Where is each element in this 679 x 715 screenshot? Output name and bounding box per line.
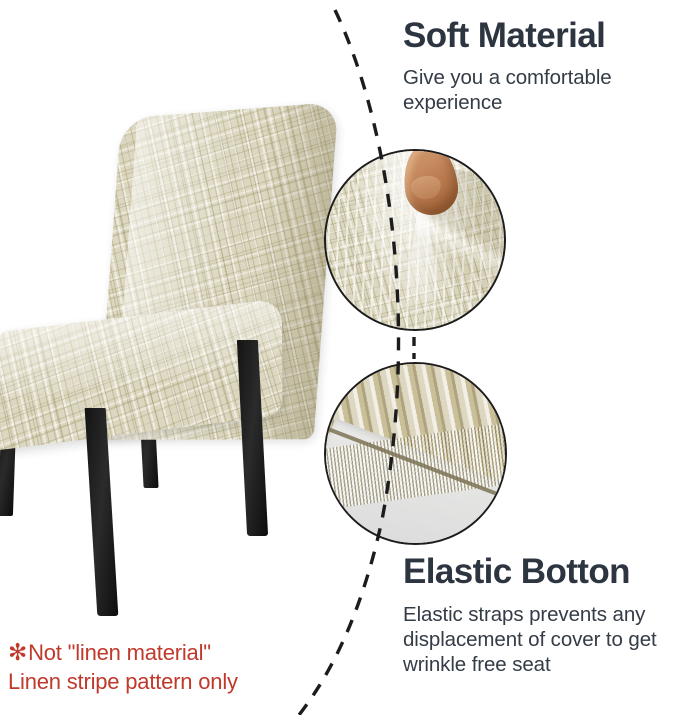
product-infographic: Soft Material Give you a comfortable exp… — [0, 0, 679, 715]
disclaimer-line-2: Linen stripe pattern only — [8, 667, 308, 696]
feature-description-soft-material: Give you a comfortable experience — [403, 65, 671, 115]
elastic-botton-inset-photo — [324, 362, 507, 545]
chair-product-image — [0, 108, 334, 628]
disclaimer-line-1: ✻Not "linen material" — [8, 638, 308, 667]
soft-material-inset-photo — [324, 149, 506, 331]
disclaimer-text-1: Not "linen material" — [28, 640, 211, 665]
feature-title-elastic-botton: Elastic Botton — [403, 552, 675, 592]
material-disclaimer: ✻Not "linen material" Linen stripe patte… — [8, 638, 308, 696]
feature-soft-material: Soft Material Give you a comfortable exp… — [403, 16, 671, 115]
feature-elastic-botton: Elastic Botton Elastic straps prevents a… — [403, 552, 675, 677]
feature-title-soft-material: Soft Material — [403, 16, 671, 56]
feature-description-elastic-botton: Elastic straps prevents any displacement… — [403, 602, 675, 677]
asterisk-icon: ✻ — [8, 639, 27, 665]
